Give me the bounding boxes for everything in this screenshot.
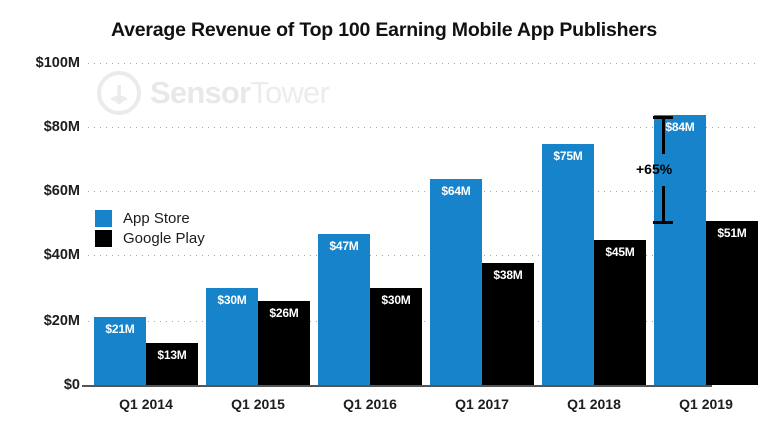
bar-google-play-q1-2017[interactable]: $38M bbox=[482, 263, 534, 385]
legend-label-app-store: App Store bbox=[123, 210, 190, 227]
y-axis-tick-40m: $40M bbox=[4, 247, 80, 263]
x-axis-tick-q1-2018: Q1 2018 bbox=[542, 396, 646, 412]
chart-legend: App Store Google Play bbox=[95, 208, 205, 248]
bar-google-play-q1-2016[interactable]: $30M bbox=[370, 288, 422, 385]
bar-group-q1-2018: $75M $45M bbox=[542, 63, 646, 385]
bracket-cap-bottom bbox=[653, 221, 673, 224]
bar-value-label: $51M bbox=[706, 226, 758, 240]
bar-app-store-q1-2016[interactable]: $47M bbox=[318, 234, 370, 385]
legend-item-google-play[interactable]: Google Play bbox=[95, 228, 205, 248]
bar-value-label: $38M bbox=[482, 268, 534, 282]
y-axis-tick-20m: $20M bbox=[4, 313, 80, 329]
legend-item-app-store[interactable]: App Store bbox=[95, 208, 205, 228]
bar-app-store-q1-2018[interactable]: $75M bbox=[542, 144, 594, 386]
legend-swatch-app-store-icon bbox=[95, 210, 112, 227]
x-axis-tick-q1-2016: Q1 2016 bbox=[318, 396, 422, 412]
x-axis-tick-q1-2015: Q1 2015 bbox=[206, 396, 310, 412]
bar-value-label: $30M bbox=[370, 293, 422, 307]
growth-annotation-label: +65% bbox=[636, 161, 672, 177]
bar-group-q1-2015: $30M $26M bbox=[206, 63, 310, 385]
y-axis-tick-60m: $60M bbox=[4, 183, 80, 199]
bar-value-label: $75M bbox=[542, 149, 594, 163]
bar-value-label: $47M bbox=[318, 239, 370, 253]
bar-google-play-q1-2014[interactable]: $13M bbox=[146, 343, 198, 385]
bar-group-q1-2019: $84M $51M bbox=[654, 63, 758, 385]
x-axis-tick-q1-2014: Q1 2014 bbox=[94, 396, 198, 412]
bracket-stem-top bbox=[662, 116, 665, 154]
bar-google-play-q1-2015[interactable]: $26M bbox=[258, 301, 310, 385]
bar-value-label: $30M bbox=[206, 293, 258, 307]
bar-value-label: $21M bbox=[94, 322, 146, 336]
legend-label-google-play: Google Play bbox=[123, 230, 205, 247]
bar-group-q1-2017: $64M $38M bbox=[430, 63, 534, 385]
chart-title: Average Revenue of Top 100 Earning Mobil… bbox=[0, 19, 768, 42]
bar-group-q1-2016: $47M $30M bbox=[318, 63, 422, 385]
revenue-bar-chart: Average Revenue of Top 100 Earning Mobil… bbox=[0, 0, 768, 430]
x-axis-tick-q1-2019: Q1 2019 bbox=[654, 396, 758, 412]
bar-value-label: $45M bbox=[594, 245, 646, 259]
x-axis-tick-q1-2017: Q1 2017 bbox=[430, 396, 534, 412]
bar-app-store-q1-2015[interactable]: $30M bbox=[206, 288, 258, 385]
bar-value-label: $64M bbox=[430, 184, 482, 198]
y-axis: $100M $80M $60M $40M $20M $0 bbox=[0, 0, 80, 430]
bar-google-play-q1-2018[interactable]: $45M bbox=[594, 240, 646, 385]
bar-app-store-q1-2017[interactable]: $64M bbox=[430, 179, 482, 385]
bar-value-label: $26M bbox=[258, 306, 310, 320]
bracket-stem-bottom bbox=[662, 186, 665, 222]
legend-swatch-google-play-icon bbox=[95, 230, 112, 247]
y-axis-tick-100m: $100M bbox=[4, 55, 80, 71]
y-axis-tick-80m: $80M bbox=[4, 119, 80, 135]
x-axis-baseline bbox=[82, 385, 712, 387]
y-axis-tick-0: $0 bbox=[4, 377, 80, 393]
bar-app-store-q1-2014[interactable]: $21M bbox=[94, 317, 146, 385]
bar-google-play-q1-2019[interactable]: $51M bbox=[706, 221, 758, 385]
bar-value-label: $13M bbox=[146, 348, 198, 362]
